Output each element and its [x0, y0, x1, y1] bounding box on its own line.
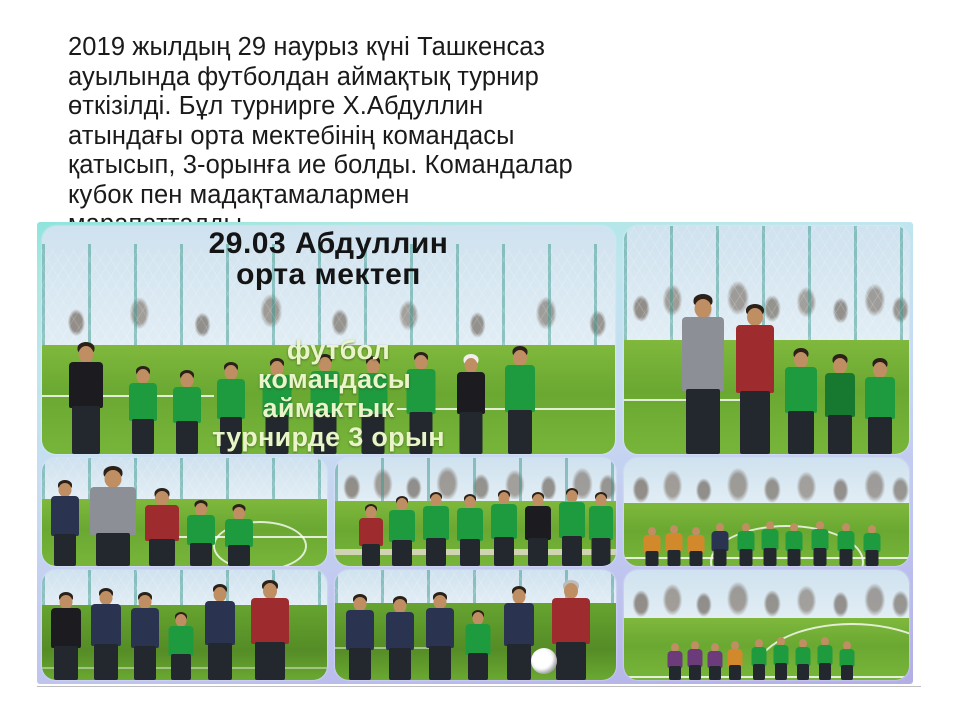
body-text-line-5: қатысып, 3-орынға ие болды. Командалар [68, 151, 868, 181]
photo-bot-center[interactable] [335, 570, 616, 680]
photo-collage: 29.03 Абдуллин орта мектеп футбол команд… [37, 222, 913, 684]
photo-mid-left-image [42, 458, 327, 566]
hero-overlay-bottom-line-1: футбол [42, 336, 615, 365]
hero-overlay-bottom-line-2: командасы [42, 365, 615, 394]
photo-bot-left-image [42, 570, 327, 680]
hero-overlay-bottom-line-3: аймактык [42, 394, 615, 423]
photo-bot-center-image [335, 570, 616, 680]
body-text-line-3: өткізілді. Бұл турнирге Х.Абдуллин [68, 92, 868, 122]
photo-mid-center-image [335, 458, 616, 566]
photo-hero[interactable]: 29.03 Абдуллин орта мектеп футбол команд… [42, 226, 615, 454]
photo-mid-right[interactable] [624, 458, 909, 566]
body-text-line-4: атындағы орта мектебінің командасы [68, 122, 868, 152]
photo-top-right[interactable] [624, 226, 909, 454]
body-text-line-1: 2019 жылдың 29 наурыз күні Ташкенсаз [68, 33, 868, 63]
hero-overlay-top: 29.03 Абдуллин орта мектеп [42, 228, 615, 290]
collage-row-3 [37, 570, 913, 682]
collage-row-2 [37, 458, 913, 568]
body-text-line-6: кубок пен мадақтамалармен [68, 181, 868, 211]
hero-overlay-top-line-2: орта мектеп [42, 259, 615, 290]
hero-overlay-bottom-line-4: турнирде 3 орын [42, 423, 615, 452]
photo-bot-left[interactable] [42, 570, 327, 680]
collage-row-1: 29.03 Абдуллин орта мектеп футбол команд… [37, 222, 913, 456]
body-text-line-2: ауылында футболдан аймақтық турнир [68, 63, 868, 93]
photo-bot-right[interactable] [624, 570, 909, 680]
slide-body-text: 2019 жылдың 29 наурыз күні Ташкенсаз ауы… [68, 33, 868, 240]
photo-bot-right-image [624, 570, 909, 680]
hero-overlay-top-line-1: 29.03 Абдуллин [42, 228, 615, 259]
photo-mid-center[interactable] [335, 458, 616, 566]
photo-mid-left[interactable] [42, 458, 327, 566]
football-icon [531, 648, 557, 674]
photo-mid-right-image [624, 458, 909, 566]
footer-divider [37, 686, 921, 687]
photo-top-right-image [624, 226, 909, 454]
photo-hero-image: 29.03 Абдуллин орта мектеп футбол команд… [42, 226, 615, 454]
hero-overlay-bottom: футбол командасы аймактык турнирде 3 оры… [42, 336, 615, 452]
